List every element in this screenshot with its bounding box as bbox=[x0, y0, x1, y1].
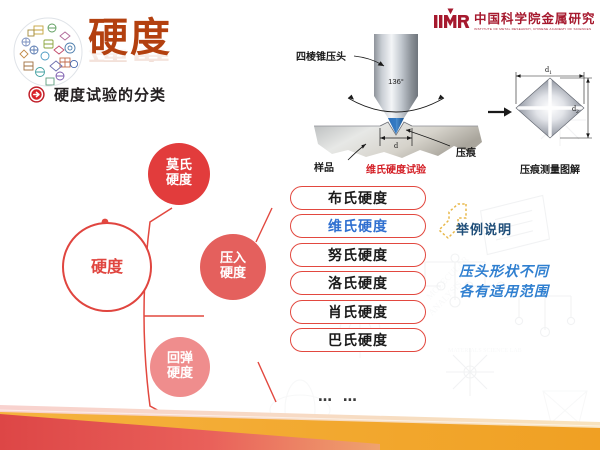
list-item[interactable]: 洛氏硬度 bbox=[290, 271, 426, 295]
note-line-2: 各有适用范围 bbox=[459, 284, 549, 300]
d1-label: d1 bbox=[545, 65, 552, 76]
indent-measure-caption: 压痕测量图解 bbox=[520, 163, 580, 174]
hardness-type-list: 布氏硬度 维氏硬度 努氏硬度 洛氏硬度 肖氏硬度 巴氏硬度 bbox=[290, 186, 430, 356]
subtitle-row: 硬度试验的分类 bbox=[28, 84, 166, 105]
mindmap-node-indentation-label: 压入 硬度 bbox=[220, 252, 246, 281]
mindmap-node-mohs[interactable]: 莫氏 硬度 bbox=[148, 143, 210, 205]
imr-logo-en: INSTITUTE OF METAL RESEARCH, CHINESE ACA… bbox=[474, 27, 591, 31]
presentation-slide: MOLECULAR ANALYSIS MATERIALS SCIENCE LAB bbox=[0, 0, 600, 450]
sample-label: 样品 bbox=[314, 161, 334, 174]
subtitle-text: 硬度试验的分类 bbox=[54, 84, 166, 105]
mindmap-root-label: 硬度 bbox=[91, 258, 123, 276]
list-item[interactable]: 布氏硬度 bbox=[290, 186, 426, 210]
d-label: d bbox=[394, 141, 398, 150]
list-item[interactable]: 维氏硬度 bbox=[290, 214, 426, 238]
footer-band bbox=[0, 392, 600, 450]
mindmap-node-indentation[interactable]: 压入 硬度 bbox=[200, 234, 266, 300]
note-line-1: 压头形状不同 bbox=[459, 264, 549, 280]
list-item[interactable]: 努氏硬度 bbox=[290, 243, 426, 267]
mindmap-root-node[interactable]: 硬度 bbox=[62, 222, 152, 312]
vickers-test-caption: 维氏硬度试验 bbox=[366, 163, 427, 174]
imr-institute-logo: 中国科学院金属研究所 INSTITUTE OF METAL RESEARCH, … bbox=[430, 6, 594, 34]
indenter-label: 四棱锥压头 bbox=[296, 50, 346, 63]
indentation-label: 压痕 bbox=[456, 146, 477, 159]
mindmap-node-mohs-label: 莫氏 硬度 bbox=[166, 159, 192, 188]
imr-logo-cn: 中国科学院金属研究所 bbox=[474, 11, 594, 26]
svg-text:MATERIALS SCIENCE LAB: MATERIALS SCIENCE LAB bbox=[448, 348, 522, 354]
list-item[interactable]: 巴氏硬度 bbox=[290, 328, 426, 352]
page-title-reflection: 硬度 bbox=[88, 40, 172, 62]
mindmap-node-rebound-label: 回弹 硬度 bbox=[167, 352, 193, 381]
list-item[interactable]: 肖氏硬度 bbox=[290, 300, 426, 324]
mindmap-node-rebound[interactable]: 回弹 硬度 bbox=[150, 337, 210, 397]
note-text: 压头形状不同 各有适用范围 bbox=[459, 262, 549, 303]
vickers-test-diagram: 136° d 四棱锥压头 样品 压痕 bbox=[292, 34, 600, 174]
example-annotation-label: 举例说明 bbox=[456, 219, 512, 238]
circle-arrow-bullet-icon bbox=[28, 86, 45, 103]
science-icons-logo bbox=[12, 16, 84, 88]
angle-label: 136° bbox=[388, 77, 404, 86]
